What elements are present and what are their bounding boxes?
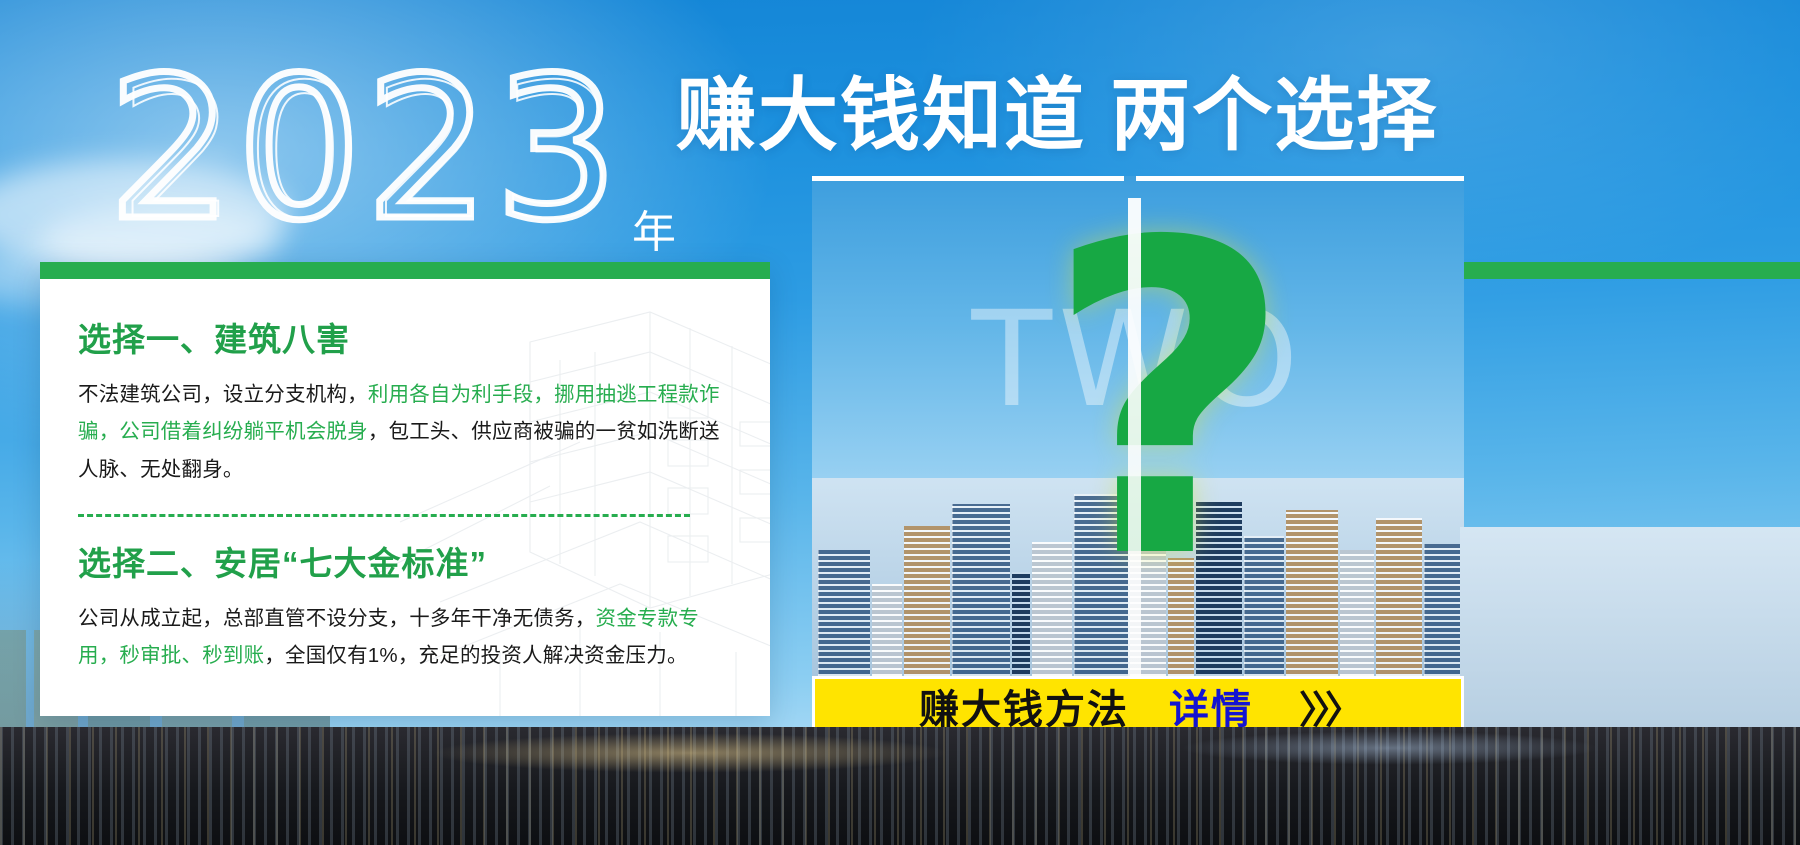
right-city-band — [1460, 527, 1800, 727]
question-mark-slit — [1128, 198, 1141, 676]
body-run-black: 不法建筑公司，设立分支机构， — [78, 383, 368, 406]
bottom-reflection-strip — [0, 727, 1800, 845]
section-divider — [78, 514, 690, 517]
content-card: 选择一、建筑八害 不法建筑公司，设立分支机构，利用各自为利手段，挪用抽逃工程款诈… — [40, 262, 770, 716]
reflection-glow — [1180, 731, 1600, 765]
headline-underline — [812, 176, 1464, 181]
right-green-accent-bar — [1460, 262, 1800, 279]
right-visual-panel: TWO CHOICES ? — [812, 176, 1464, 676]
poster-stage: 2023 2023 年 赚大钱知道 两个选择 TWO CHOICES ? — [0, 0, 1800, 845]
body-run-black: 公司从成立起，总部直管不设分支，十多年干净无债务， — [78, 607, 596, 630]
section-two-body: 公司从成立起，总部直管不设分支，十多年干净无债务，资金专款专用，秒审批、秒到账，… — [78, 600, 732, 675]
section-two-heading: 选择二、安居“七大金标准” — [78, 547, 732, 580]
page-title: 赚大钱知道 两个选择 — [676, 76, 1438, 156]
chevron-right-icon: 〉〉〉 — [1299, 679, 1357, 734]
section-one-heading: 选择一、建筑八害 — [78, 323, 732, 356]
headline-underline-right — [1136, 176, 1464, 181]
headline-underline-left — [812, 176, 1124, 181]
section-two: 选择二、安居“七大金标准” 公司从成立起，总部直管不设分支，十多年干净无债务，资… — [78, 547, 732, 675]
question-mark-icon: ? — [1044, 188, 1293, 618]
section-one-body: 不法建筑公司，设立分支机构，利用各自为利手段，挪用抽逃工程款诈骗，公司借着纠纷躺… — [78, 376, 732, 488]
reflection-glow — [430, 733, 950, 773]
body-run-black: ，全国仅有1%，充足的投资人解决资金压力。 — [264, 644, 687, 667]
year-outline-number-inner: 2023 — [119, 60, 626, 245]
year-suffix-label: 年 — [632, 196, 676, 260]
card-content: 选择一、建筑八害 不法建筑公司，设立分支机构，利用各自为利手段，挪用抽逃工程款诈… — [40, 279, 770, 674]
